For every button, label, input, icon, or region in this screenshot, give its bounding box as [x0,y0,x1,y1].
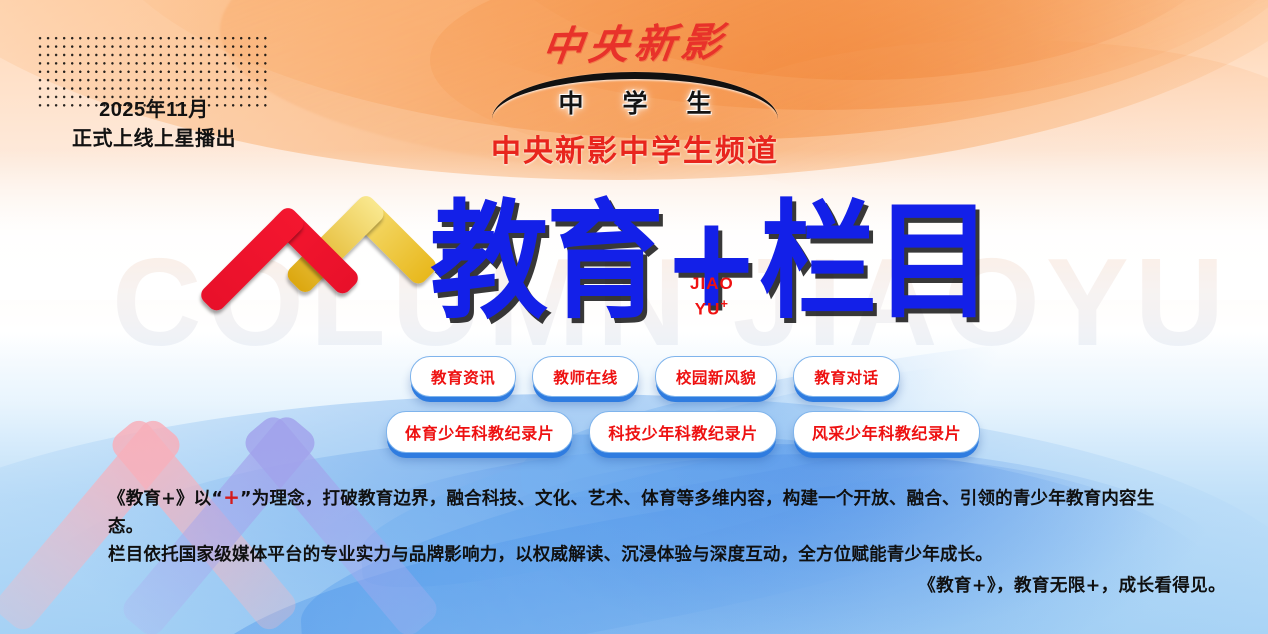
category-button-style-youth-doc[interactable]: 风采少年科教纪录片 [793,411,980,453]
category-button-education-dialogue[interactable]: 教育对话 [793,356,899,397]
description-line-1: 《教育+》以“+”为理念，打破教育边界，融合科技、文化、艺术、体育等多维内容，构… [108,483,1178,541]
channel-logo: 中央新影 中 学 生 中央新影中学生频道 [470,22,800,174]
logo-sub-mark: 中 学 生 [470,84,800,120]
category-row-secondary: 体育少年科教纪录片 科技少年科教纪录片 风采少年科教纪录片 [386,411,980,453]
category-button-sports-youth-doc[interactable]: 体育少年科教纪录片 [386,411,573,453]
title-pinyin: JIAO YU+ [690,274,734,320]
category-button-education-news[interactable]: 教育资讯 [410,356,516,397]
cctv-script-mark: 中央新影 [466,18,803,73]
category-button-campus-style[interactable]: 校园新风貌 [655,356,778,397]
tagline: 《教育+》，教育无限+，成长看得见。 [0,572,1226,597]
launch-info: 2025年11月 正式上线上星播出 [36,96,272,154]
launch-status: 正式上线上星播出 [36,125,272,154]
description-paragraph: 《教育+》以“+”为理念，打破教育边界，融合科技、文化、艺术、体育等多维内容，构… [108,483,1178,569]
channel-name: 中央新影中学生频道 [390,126,880,170]
launch-date: 2025年11月 [36,96,272,125]
category-row-primary: 教育资讯 教师在线 校园新风貌 教育对话 [410,356,900,397]
pinyin-line-2: YU+ [690,294,734,320]
pinyin-line-1: JIAO [690,274,734,294]
category-button-tech-youth-doc[interactable]: 科技少年科教纪录片 [589,411,776,453]
description-line-2: 栏目依托国家级媒体平台的专业实力与品牌影响力，以权威解读、沉浸体验与深度互动，全… [108,541,1178,569]
poster-root: COLUMN JIAOYU + 2025年11月 正式上线上星播出 中央新影 中… [0,0,1268,634]
category-button-teachers-online[interactable]: 教师在线 [532,356,638,397]
brand-mark-icon [228,196,438,366]
